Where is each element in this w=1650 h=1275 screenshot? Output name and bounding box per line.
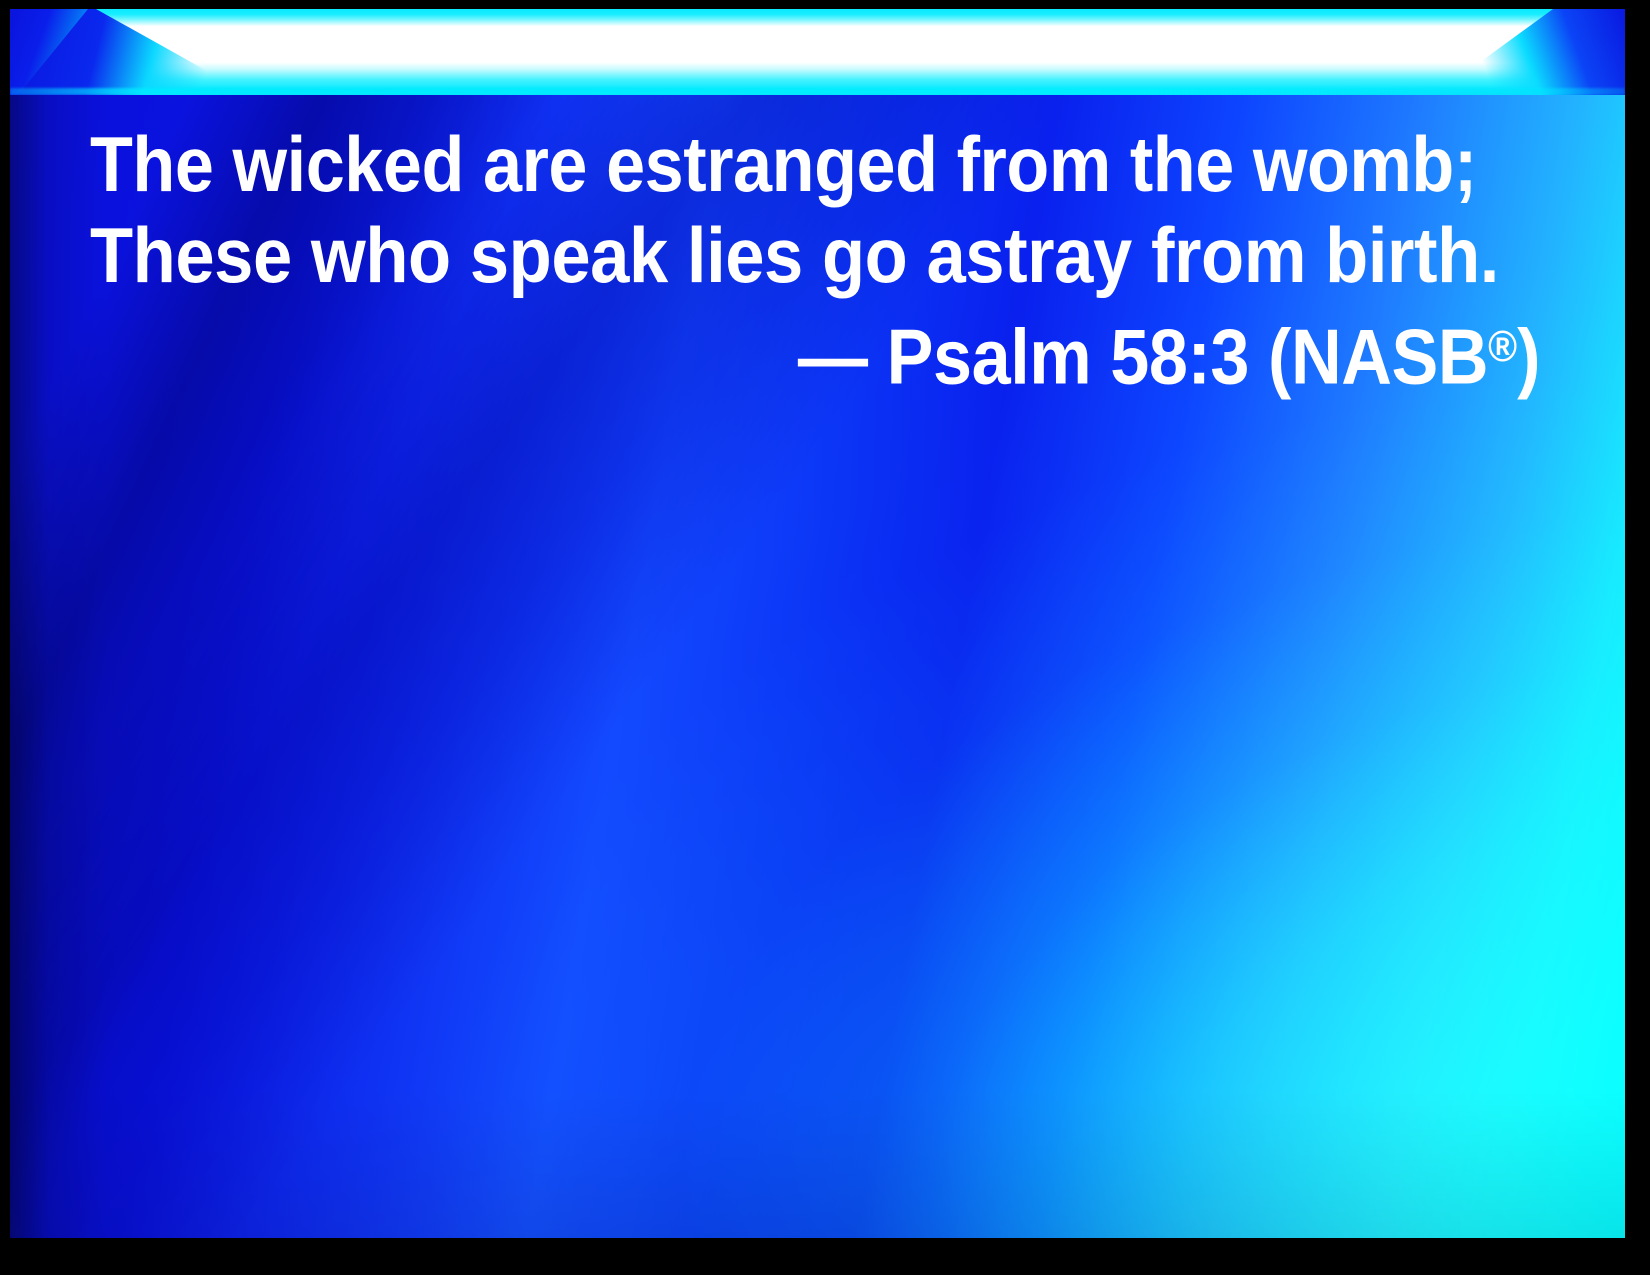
attribution-translation: (NASB (1268, 313, 1488, 401)
top-band-fill (10, 9, 1625, 95)
attribution-dash: — (798, 313, 868, 401)
attribution-close-paren: ) (1517, 313, 1540, 401)
slide-artwork-area: The wicked are estranged from the womb; … (10, 9, 1625, 1238)
top-band-right-taper (1395, 9, 1625, 95)
verse-attribution: — Psalm 58:3 (NASB®) (235, 301, 1540, 403)
verse-slide: The wicked are estranged from the womb; … (0, 0, 1650, 1275)
top-band-left-taper (10, 9, 310, 95)
verse-line-2: These who speak lies go astray from birt… (90, 210, 1402, 301)
top-band-left-edge (10, 9, 270, 95)
attribution-reference: Psalm 58:3 (887, 313, 1249, 401)
top-band-underline (10, 88, 1625, 95)
registered-trademark-icon: ® (1488, 322, 1517, 371)
top-glow-band (10, 9, 1625, 95)
verse-text-block: The wicked are estranged from the womb; … (90, 119, 1540, 403)
verse-line-1: The wicked are estranged from the womb; (90, 119, 1395, 210)
